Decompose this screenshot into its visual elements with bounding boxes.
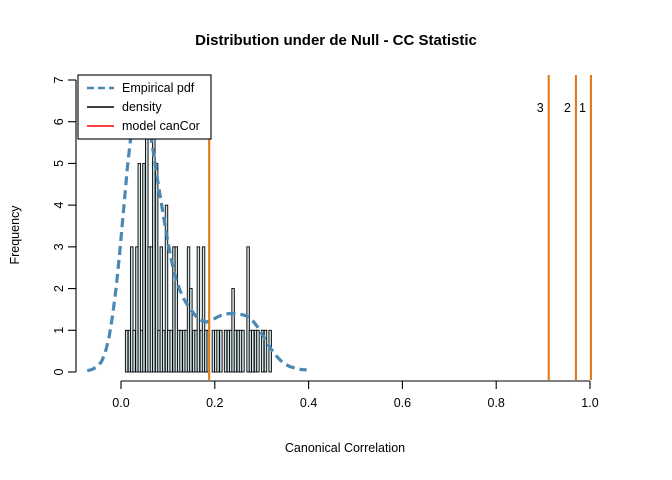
x-axis-tick-label: 0.2 [206,396,223,410]
x-axis-tick-label: 0.8 [488,396,505,410]
x-axis-tick-label: 1.0 [581,396,598,410]
reference-line-label: 2 [564,101,571,115]
histogram-bar [162,330,164,372]
histogram-bar [257,330,259,372]
chart-legend: Empirical pdfdensitymodel canCor [78,75,211,139]
chart-background [0,0,672,480]
histogram-bar [133,330,135,372]
y-axis-tick-label: 2 [52,285,66,292]
legend-label: density [122,100,162,114]
x-axis-tick-label: 0.4 [300,396,317,410]
y-axis-tick-label: 6 [52,118,66,125]
histogram-bar [125,330,127,372]
histogram-bar [242,330,244,372]
x-axis-tick-label: 0.0 [112,396,129,410]
x-axis-title: Canonical Correlation [285,441,405,455]
histogram-bar [190,289,192,372]
histogram-bar [252,330,254,372]
histogram-bar [220,330,222,372]
chart-container: Distribution under de Null - CC Statisti… [0,0,672,480]
y-axis-tick-label: 0 [52,368,66,375]
reference-line-label: 1 [579,101,586,115]
legend-label: Empirical pdf [122,81,195,95]
histogram-bar [224,330,226,372]
histogram-bar [197,247,199,372]
reference-line-label: 3 [537,101,544,115]
y-axis-title: Frequency [8,205,22,265]
y-axis-tick-label: 1 [52,327,66,334]
histogram-bar [170,330,172,372]
legend-label: model canCor [122,119,200,133]
plot-canvas: Distribution under de Null - CC Statisti… [0,0,672,480]
y-axis-tick-label: 3 [52,243,66,250]
histogram-bar [180,330,182,372]
histogram-bar [143,163,145,372]
y-axis-tick-label: 7 [52,76,66,83]
chart-title: Distribution under de Null - CC Statisti… [195,32,477,49]
x-axis-tick-label: 0.6 [394,396,411,410]
histogram-bar [217,330,219,372]
y-axis-tick-label: 4 [52,202,66,209]
histogram-bar [234,330,236,372]
y-axis-tick-label: 5 [52,160,66,167]
